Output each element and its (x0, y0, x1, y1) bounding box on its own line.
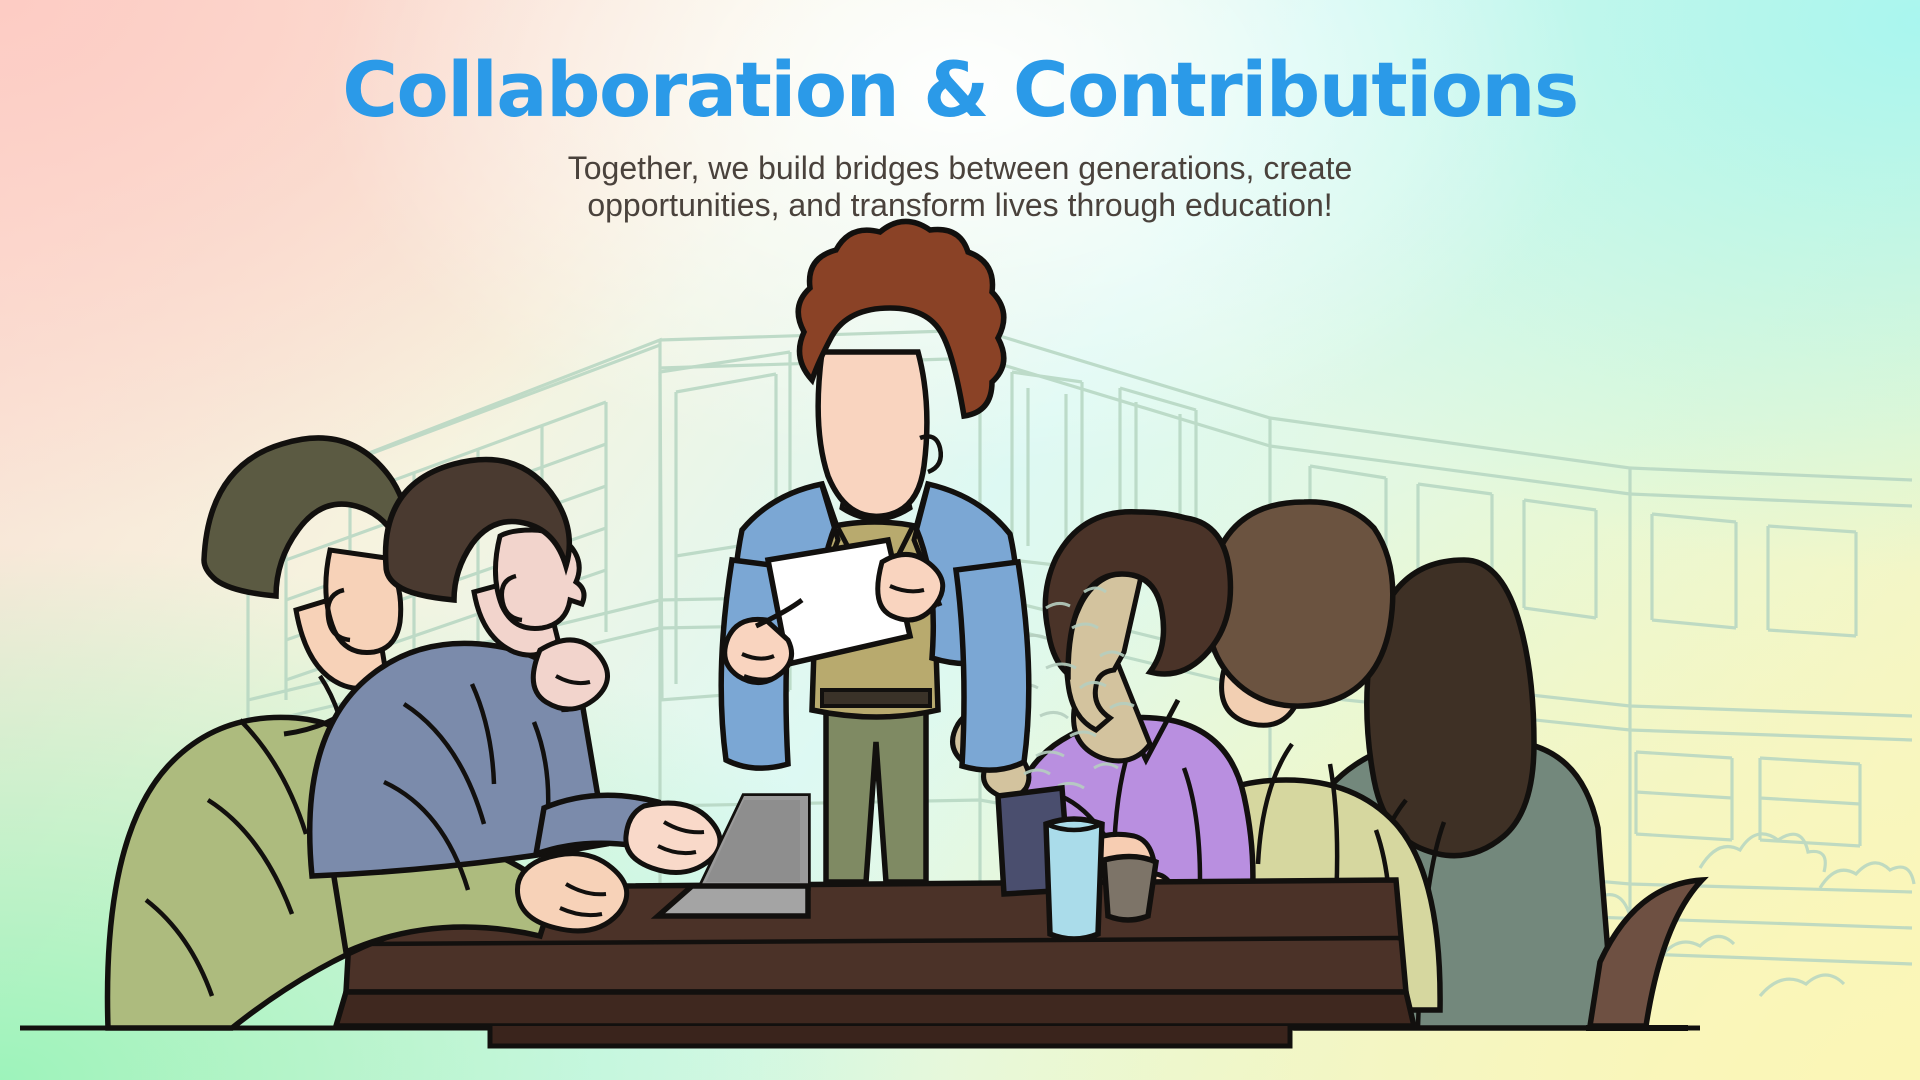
page-subtitle: Together, we build bridges between gener… (0, 150, 1920, 224)
page-title: Collaboration & Contributions (0, 52, 1920, 128)
header: Collaboration & Contributions Together, … (0, 0, 1920, 224)
cup (1046, 819, 1102, 939)
mug (1104, 856, 1156, 920)
page-subtitle-line-1: Together, we build bridges between gener… (568, 150, 1353, 186)
page-subtitle-line-2: opportunities, and transform lives throu… (587, 187, 1332, 223)
